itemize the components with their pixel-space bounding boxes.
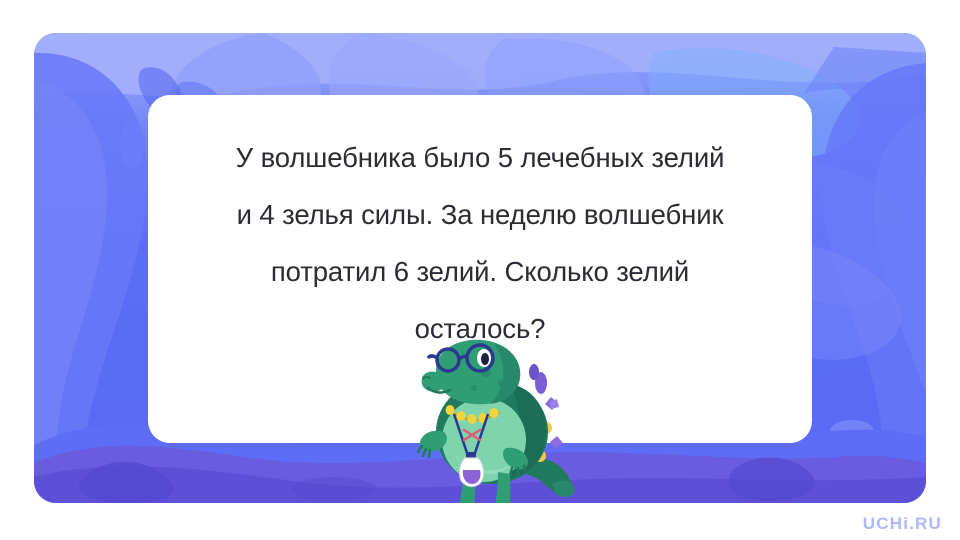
slide-root: У волшебника было 5 лечебных зелий и 4 з…: [0, 0, 960, 540]
question-line-2: и 4 зелья силы. За неделю волшебник: [178, 186, 782, 243]
ground-rock-mid: [292, 477, 376, 501]
stalactite-c: [120, 121, 144, 169]
question-line-4: осталось?: [178, 300, 782, 357]
uchi-ru-logo: UCHi.RU: [863, 514, 942, 534]
slide-frame: У волшебника было 5 лечебных зелий и 4 з…: [34, 33, 926, 503]
question-line-3: потратил 6 зелий. Сколько зелий: [178, 243, 782, 300]
question-card: У волшебника было 5 лечебных зелий и 4 з…: [148, 95, 812, 443]
question-line-1: У волшебника было 5 лечебных зелий: [178, 129, 782, 186]
question-text: У волшебника было 5 лечебных зелий и 4 з…: [178, 129, 782, 357]
